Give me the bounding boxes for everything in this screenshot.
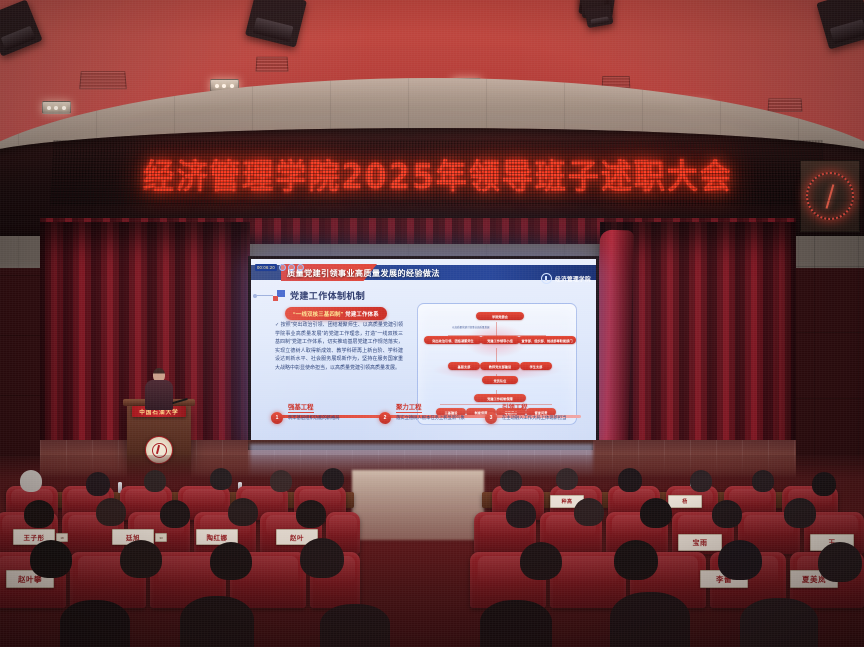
audience-person <box>160 500 190 528</box>
audience-person-front <box>60 600 130 647</box>
audience-person <box>20 470 42 492</box>
audience-person-front <box>180 596 254 647</box>
control-dot-icon <box>288 264 295 271</box>
audience-person <box>300 538 344 578</box>
audience-person <box>818 542 862 582</box>
audience-person <box>144 470 166 492</box>
seat-name-text: 赵叶 <box>290 532 304 542</box>
event-title-text: 经济管理学院2025年领导班子述职大会 <box>142 148 733 198</box>
school-logo-icon <box>541 273 552 284</box>
school-logo-text: 经济管理学院 <box>555 275 591 283</box>
badge-prefix-text: “一线双核三基四制” <box>293 312 344 318</box>
seat-name-card: 宝雨 <box>678 534 722 551</box>
audience-person <box>614 540 658 580</box>
diagram-node: 突出政治引领、团结凝聚师生 <box>424 336 482 344</box>
step-number: 2 <box>379 412 391 424</box>
diagram-top-caption: 以高质量党建引领事业高质量发展 <box>452 325 490 329</box>
speaker-body <box>145 380 173 410</box>
step-desc: 落实立德树人根本任务上彰显新气象 <box>396 415 482 421</box>
diagram-node-top: 学院党委会 <box>476 312 524 320</box>
audience-person <box>506 500 536 528</box>
audience-person <box>690 470 712 492</box>
diagram-connector <box>496 322 497 336</box>
step-number: 3 <box>485 412 497 424</box>
audience-person <box>228 498 258 526</box>
audience-person <box>210 468 232 490</box>
ceiling-downlight <box>42 101 71 114</box>
audience-person <box>784 498 816 528</box>
audience-person <box>270 470 292 492</box>
audience-person <box>812 472 836 496</box>
audience-person <box>618 468 642 492</box>
step-desc: 在主动融入工作大局上体现新担当 <box>502 415 588 421</box>
diagram-node: 宣传部、组织部、统战部等职能部门 <box>518 336 576 344</box>
step-number: 1 <box>271 412 283 424</box>
audience-person <box>520 542 562 580</box>
step-title: 引领工程 <box>502 402 528 413</box>
audience-person <box>640 498 672 528</box>
audience-person-front <box>480 600 552 647</box>
audience-person <box>322 468 344 490</box>
control-dot-icon <box>297 264 304 271</box>
seat-number-tag: 33 <box>155 533 167 542</box>
slide-steps-band: 1 强基工程 筑牢基层组织功能的新格局 2 聚力工程 落实立德树人根本任务上彰显… <box>259 399 589 441</box>
square-marker-icon <box>273 290 285 301</box>
presentation-slide: 00:06:20 质量党建引领事业高质量发展的经验做法 经济管理学院 党建工作体… <box>251 259 596 449</box>
audience-person <box>718 540 762 580</box>
audience-person <box>96 498 126 526</box>
center-aisle <box>352 470 484 540</box>
ceiling-vent <box>768 98 803 111</box>
seat-name-text: 王子彤 <box>24 532 45 542</box>
audience-person <box>712 500 742 528</box>
audience-person <box>574 498 604 526</box>
audience-person <box>86 472 110 496</box>
audience-person <box>24 500 54 528</box>
seat-name-text: 宝雨 <box>693 538 708 548</box>
diagram-node: 教师党支部建设 <box>480 362 520 370</box>
projection-screen: 00:06:20 质量党建引领事业高质量发展的经验做法 经济管理学院 党建工作体… <box>248 256 599 452</box>
step-desc: 筑牢基层组织功能的新格局 <box>288 415 374 421</box>
seat-name-card: 杨 <box>668 495 702 508</box>
slide-timer-overlay: 00:06:20 <box>255 263 304 271</box>
audience-person <box>210 542 252 580</box>
led-banner: 经济管理学院2025年领导班子述职大会 <box>50 140 825 206</box>
slide-header-title: 质量党建引领事业高质量发展的经验做法 <box>287 267 440 279</box>
audience-person <box>120 540 162 578</box>
speaker-person <box>143 368 175 410</box>
seat-name-text: 种高 <box>561 498 572 505</box>
audience-person-front <box>610 592 690 647</box>
diagram-node: 党建工作领导小组 <box>480 336 520 344</box>
ceiling-vent <box>79 71 127 89</box>
seat-name-text: 陶红娜 <box>207 532 228 542</box>
slide-body-text: ✓ 按照“突出政治引领、团结凝聚师生、以高质量党建引领学院事业高质量发展”的党建… <box>275 321 403 373</box>
section-title-text: 党建工作体制机制 <box>290 289 365 302</box>
timer-text: 00:06:20 <box>255 264 277 271</box>
section-rule <box>257 295 273 296</box>
diagram-node-center: 党员队伍 <box>482 376 518 384</box>
slide-school-logo: 经济管理学院 <box>541 271 591 286</box>
badge-suffix-text: 党建工作体系 <box>345 312 379 318</box>
step-title: 聚力工程 <box>396 402 422 413</box>
audience-person <box>556 468 578 490</box>
slide-section-heading: 党建工作体制机制 <box>273 289 365 302</box>
control-dot-icon <box>279 264 286 271</box>
audience-person <box>752 470 774 492</box>
audience-person <box>296 500 326 528</box>
audience-person-front <box>740 598 818 647</box>
diagram-node: 基层支部 <box>448 362 480 370</box>
step-title: 强基工程 <box>288 402 314 413</box>
audience-person <box>30 540 72 578</box>
audience-person <box>500 470 522 492</box>
conference-hall-photo: 经济管理学院2025年领导班子述职大会 00:06:20 质量党建引领事业高质量… <box>0 0 864 647</box>
diagram-connector <box>496 348 497 362</box>
slide-badge: “一线双核三基四制” 党建工作体系 <box>285 307 387 320</box>
audience-person-front <box>320 604 390 647</box>
seat-name-text: 杨 <box>682 498 688 505</box>
diagram-node: 学生支部 <box>520 362 552 370</box>
ceiling-vent <box>256 57 289 72</box>
